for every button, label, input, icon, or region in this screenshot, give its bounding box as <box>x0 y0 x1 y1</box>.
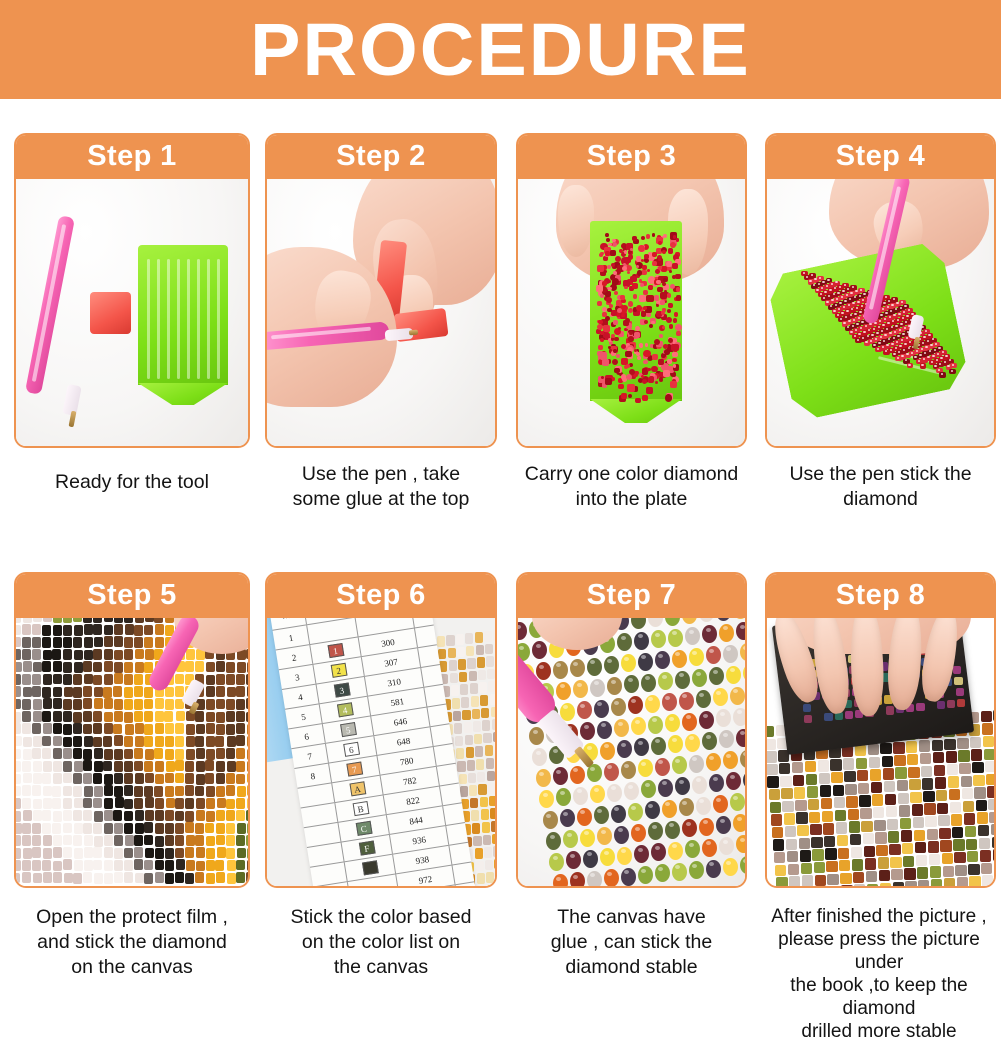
mosaic-bead <box>16 761 21 772</box>
mosaic-bead <box>23 687 32 698</box>
mosaic-bead <box>648 618 663 627</box>
step-badge-7: Step 7 <box>516 572 747 618</box>
mosaic-bead <box>206 686 215 697</box>
mosaic-bead <box>165 749 174 760</box>
mosaic-bead <box>53 872 62 883</box>
mosaic-bead <box>134 847 143 858</box>
mosaic-bead <box>134 711 143 722</box>
mosaic-bead <box>726 861 731 865</box>
mosaic-bead <box>226 748 235 759</box>
mosaic-bead <box>494 744 495 755</box>
mosaic-bead <box>63 823 72 834</box>
mosaic-bead <box>850 331 852 333</box>
mosaic-bead <box>63 662 72 673</box>
mosaic-bead <box>900 323 902 325</box>
mosaic-bead <box>608 243 611 246</box>
mosaic-bead <box>104 618 113 622</box>
mosaic-bead <box>236 699 245 710</box>
mosaic-bead <box>155 860 164 871</box>
mosaic-bead <box>883 302 885 304</box>
mosaic-bead <box>604 270 607 273</box>
mosaic-bead <box>706 841 711 845</box>
chart-symbol-swatch: 5 <box>340 722 357 737</box>
caption-line: Ready for the tool <box>14 470 250 495</box>
mosaic-bead <box>658 241 662 245</box>
mosaic-bead <box>481 809 489 820</box>
mosaic-bead <box>196 847 205 858</box>
mosaic-bead <box>954 677 962 685</box>
mosaic-bead <box>676 331 681 336</box>
mosaic-bead <box>480 695 488 706</box>
mosaic-bead <box>916 703 924 711</box>
mosaic-bead <box>104 649 113 660</box>
mosaic-bead <box>945 355 947 357</box>
mosaic-bead <box>601 830 606 834</box>
mosaic-bead <box>587 746 592 750</box>
mosaic-bead <box>706 735 711 739</box>
caption-line: drilled more stable <box>755 1020 1001 1043</box>
mosaic-bead <box>84 847 93 858</box>
mosaic-bead <box>23 618 32 623</box>
mosaic-bead <box>16 686 21 697</box>
mosaic-bead <box>165 786 174 797</box>
step-badge-2: Step 2 <box>265 133 497 179</box>
mosaic-bead <box>93 773 102 784</box>
mosaic-bead <box>898 313 900 315</box>
mosaic-bead <box>906 315 908 317</box>
mosaic-bead <box>63 798 72 809</box>
mosaic-bead <box>103 736 112 747</box>
mosaic-bead <box>676 295 681 300</box>
mosaic-bead <box>135 662 144 673</box>
mosaic-bead <box>492 834 495 845</box>
caption-line: The canvas have <box>516 905 747 930</box>
mosaic-bead <box>114 872 123 883</box>
mosaic-bead <box>84 860 93 871</box>
mosaic-bead <box>155 836 164 847</box>
mosaic-bead <box>23 810 32 821</box>
mosaic-bead <box>186 724 195 735</box>
mosaic-bead <box>104 785 113 796</box>
mosaic-bead <box>104 774 113 785</box>
mosaic-bead <box>692 651 697 655</box>
mosaic-bead <box>956 688 964 696</box>
mosaic-bead <box>644 254 649 259</box>
mosaic-bead <box>845 711 853 719</box>
page-title: PROCEDURE <box>250 13 751 87</box>
step-card-4: Step 4 <box>765 133 996 448</box>
mosaic-bead <box>861 305 863 307</box>
mosaic-bead <box>641 270 646 275</box>
mosaic-bead <box>664 349 670 355</box>
mosaic-bead <box>134 637 143 648</box>
mosaic-bead <box>16 699 21 710</box>
mosaic-bead <box>713 777 718 781</box>
mosaic-bead <box>667 309 671 313</box>
mosaic-bead <box>628 254 633 259</box>
mosaic-bead <box>114 835 123 846</box>
mosaic-bead <box>642 395 648 401</box>
mosaic-bead <box>73 873 82 884</box>
red-diamond-beads <box>518 179 745 446</box>
mosaic-bead <box>237 662 246 673</box>
mosaic-bead <box>665 696 670 700</box>
mosaic-bead <box>94 637 103 648</box>
mosaic-bead <box>196 774 205 785</box>
mosaic-bead <box>52 649 61 660</box>
mosaic-bead <box>185 811 194 822</box>
mosaic-bead <box>610 250 616 256</box>
mosaic-bead <box>43 835 52 846</box>
mosaic-bead <box>841 296 843 298</box>
mosaic-bead <box>652 718 657 722</box>
mosaic-bead <box>492 719 495 730</box>
mosaic-bead <box>486 656 494 667</box>
mosaic-bead <box>114 786 123 797</box>
step-photo-3 <box>518 179 745 446</box>
mosaic-bead <box>93 823 102 834</box>
mosaic-bead <box>124 785 133 796</box>
mosaic-bead <box>835 304 837 306</box>
mosaic-bead <box>594 681 599 685</box>
mosaic-bead <box>940 357 942 359</box>
mosaic-bead <box>839 286 841 288</box>
mosaic-bead <box>83 872 92 883</box>
mosaic-bead <box>686 715 691 719</box>
mosaic-bead <box>660 300 665 305</box>
mosaic-bead <box>626 364 630 368</box>
mosaic-bead <box>236 686 245 697</box>
mosaic-bead <box>22 674 31 685</box>
mosaic-bead <box>236 748 245 759</box>
mosaic-bead <box>597 265 604 272</box>
mosaic-bead <box>83 661 92 672</box>
mosaic-bead <box>185 661 194 672</box>
mosaic-bead <box>114 618 123 623</box>
mosaic-bead <box>636 305 642 311</box>
mosaic-bead <box>921 364 923 366</box>
mosaic-bead <box>597 809 602 813</box>
mosaic-bead <box>53 861 62 872</box>
mosaic-bead <box>73 810 82 821</box>
mosaic-bead <box>124 823 133 834</box>
mosaic-bead <box>641 869 646 873</box>
mosaic-bead <box>668 248 673 253</box>
mosaic-bead <box>720 819 725 823</box>
mosaic-bead <box>556 877 561 881</box>
mosaic-bead <box>652 261 657 266</box>
mosaic-bead <box>124 761 133 772</box>
chart-symbol-swatch: 1 <box>327 643 344 658</box>
mosaic-bead <box>539 772 544 776</box>
mosaic-bead <box>487 885 495 886</box>
mosaic-bead <box>175 773 184 784</box>
mosaic-bead <box>104 636 113 647</box>
mosaic-bead <box>134 748 143 759</box>
mosaic-bead <box>104 661 113 672</box>
mosaic-bead <box>16 674 21 685</box>
mosaic-bead <box>63 724 72 735</box>
mosaic-bead <box>84 674 93 685</box>
mosaic-bead <box>43 761 52 772</box>
mosaic-bead <box>84 835 93 846</box>
mosaic-bead <box>16 873 20 884</box>
mosaic-bead <box>247 773 248 784</box>
mosaic-bead <box>53 625 62 636</box>
mosaic-bead <box>614 701 619 705</box>
mosaic-bead <box>621 743 626 747</box>
mosaic-bead <box>226 711 235 722</box>
mosaic-bead <box>893 353 895 355</box>
mosaic-bead <box>144 860 153 871</box>
mosaic-bead <box>459 672 467 683</box>
mosaic-bead <box>206 675 215 686</box>
mosaic-bead <box>93 662 102 673</box>
mosaic-bead <box>488 681 495 692</box>
mosaic-bead <box>475 746 483 757</box>
mosaic-bead <box>600 352 607 359</box>
mosaic-bead <box>52 786 61 797</box>
mosaic-bead <box>16 823 22 834</box>
procedure-infographic: PROCEDURE Step 1 <box>0 0 1001 1001</box>
mosaic-bead <box>32 847 41 858</box>
mosaic-bead <box>217 847 226 858</box>
caption-line: Use the pen stick the <box>765 462 996 487</box>
mosaic-bead <box>42 711 51 722</box>
mosaic-bead <box>553 856 558 860</box>
mosaic-bead <box>135 736 144 747</box>
mosaic-bead <box>63 649 72 660</box>
mosaic-bead <box>247 848 248 859</box>
mosaic-bead <box>186 649 195 660</box>
mosaic-bead <box>859 295 861 297</box>
caption-line: Stick the color based <box>265 905 497 930</box>
mosaic-bead <box>32 649 41 660</box>
mosaic-bead <box>829 289 831 291</box>
mosaic-bead <box>195 661 204 672</box>
mosaic-bead <box>63 618 72 623</box>
mosaic-bead <box>144 687 153 698</box>
mosaic-bead <box>672 738 677 742</box>
step-badge-1: Step 1 <box>14 133 250 179</box>
mosaic-bead <box>53 698 62 709</box>
mosaic-bead <box>639 343 643 347</box>
mosaic-bead <box>643 290 647 294</box>
mosaic-bead <box>743 771 745 789</box>
mosaic-bead <box>216 686 225 697</box>
mosaic-bead <box>23 661 32 672</box>
step-caption-2: Use the pen , take some glue at the top <box>265 462 497 512</box>
mosaic-bead <box>124 649 133 660</box>
mosaic-bead <box>473 836 481 847</box>
mosaic-bead <box>53 674 62 685</box>
mosaic-bead <box>83 810 92 821</box>
mosaic-bead <box>437 636 445 647</box>
mosaic-bead <box>854 313 856 315</box>
mosaic-bead <box>618 828 623 832</box>
mosaic-bead <box>857 301 859 303</box>
mosaic-bead <box>891 343 893 345</box>
mosaic-bead <box>104 798 113 809</box>
red-diamond-rows <box>767 179 994 446</box>
mosaic-bead <box>624 764 629 768</box>
mosaic-bead <box>114 848 123 859</box>
mosaic-bead <box>226 810 235 821</box>
mosaic-bead <box>670 381 677 388</box>
mosaic-bead <box>175 823 184 834</box>
mosaic-bead <box>125 624 134 635</box>
mosaic-bead <box>124 799 133 810</box>
mosaic-bead <box>176 711 185 722</box>
mosaic-bead <box>53 711 62 722</box>
caption-line: on the canvas <box>8 955 256 980</box>
mosaic-bead <box>135 773 144 784</box>
mosaic-bead <box>236 835 245 846</box>
mosaic-bead <box>616 354 619 357</box>
mosaic-bead <box>93 798 102 809</box>
mosaic-bead <box>216 761 225 772</box>
mosaic-bead <box>103 687 112 698</box>
mosaic-bead <box>613 320 618 325</box>
mosaic-bead <box>205 823 214 834</box>
mosaic-bead <box>53 835 62 846</box>
mosaic-bead <box>74 823 83 834</box>
mosaic-bead <box>247 761 248 772</box>
mosaic-bead <box>74 650 83 661</box>
mosaic-bead <box>114 749 123 760</box>
mosaic-bead <box>656 280 660 284</box>
step-photo-7 <box>518 618 745 886</box>
mosaic-bead <box>16 712 21 723</box>
mosaic-bead <box>635 827 640 831</box>
mosaic-bead <box>175 786 184 797</box>
mosaic-bead <box>885 296 887 298</box>
mosaic-bead <box>206 736 215 747</box>
mosaic-bead <box>42 736 51 747</box>
step-badge-4: Step 4 <box>765 133 996 179</box>
mosaic-bead <box>887 306 889 308</box>
mosaic-bead <box>652 825 657 829</box>
mosaic-bead <box>659 334 662 337</box>
mosaic-bead <box>83 618 92 623</box>
mosaic-bead <box>84 736 93 747</box>
mosaic-bead <box>23 737 32 748</box>
mosaic-bead <box>953 666 961 674</box>
step-badge-5: Step 5 <box>14 572 250 618</box>
mosaic-bead <box>473 721 481 732</box>
mosaic-bead <box>114 624 123 635</box>
step-badge-label: Step 3 <box>587 142 676 171</box>
mosaic-bead <box>546 814 551 818</box>
mosaic-bead <box>124 811 133 822</box>
mosaic-bead <box>16 798 21 809</box>
mosaic-bead <box>63 625 72 636</box>
mosaic-bead <box>661 266 666 271</box>
mosaic-bead <box>22 723 31 734</box>
mosaic-bead <box>672 358 677 363</box>
mosaic-bead <box>165 835 174 846</box>
mosaic-bead <box>216 823 225 834</box>
mosaic-bead <box>104 810 113 821</box>
mosaic-bead <box>459 774 467 785</box>
mosaic-bead <box>663 234 667 238</box>
mosaic-bead <box>73 786 82 797</box>
mosaic-bead <box>472 823 480 834</box>
mosaic-bead <box>155 798 164 809</box>
mosaic-bead <box>631 699 636 703</box>
mosaic-bead <box>226 823 235 834</box>
mosaic-bead <box>632 283 638 289</box>
mosaic-bead <box>185 785 194 796</box>
mosaic-bead <box>493 732 495 743</box>
mosaic-bead <box>600 338 604 342</box>
mosaic-bead <box>93 737 102 748</box>
mosaic-bead <box>226 835 235 846</box>
mosaic-bead <box>247 662 248 673</box>
mosaic-bead <box>134 761 143 772</box>
mosaic-bead <box>457 647 465 658</box>
mosaic-bead <box>74 848 83 859</box>
mosaic-bead <box>195 835 204 846</box>
mosaic-bead <box>458 659 466 670</box>
mosaic-bead <box>237 848 246 859</box>
mosaic-bead <box>33 662 42 673</box>
mosaic-bead <box>104 835 113 846</box>
mosaic-bead <box>837 314 839 316</box>
mosaic-bead <box>53 811 62 822</box>
mosaic-bead <box>689 736 694 740</box>
mosaic-bead <box>185 798 194 809</box>
mosaic-bead <box>186 749 195 760</box>
mosaic-bead <box>165 699 174 710</box>
mosaic-bead <box>22 798 31 809</box>
mosaic-bead <box>22 624 31 635</box>
mosaic-bead <box>634 332 640 338</box>
step-badge-6: Step 6 <box>265 572 497 618</box>
mosaic-bead <box>600 331 604 335</box>
mosaic-bead <box>882 308 884 310</box>
mosaic-bead <box>713 670 718 674</box>
mosaic-bead <box>645 783 650 787</box>
mosaic-bead <box>672 631 677 635</box>
mosaic-bead <box>844 300 846 302</box>
mosaic-bead <box>215 860 224 871</box>
mosaic-bead <box>852 325 854 327</box>
mosaic-bead <box>124 637 133 648</box>
mosaic-bead <box>600 294 604 298</box>
mosaic-bead <box>672 263 678 269</box>
step-badge-label: Step 5 <box>87 581 176 610</box>
mosaic-bead <box>63 786 72 797</box>
mosaic-bead <box>22 872 31 883</box>
mosaic-bead <box>477 772 485 783</box>
mosaic-bead <box>469 671 477 682</box>
mosaic-bead <box>485 745 493 756</box>
mosaic-bead <box>465 735 473 746</box>
caption-line: Open the protect film , <box>8 905 256 930</box>
mosaic-bead <box>165 687 174 698</box>
mosaic-bead <box>217 798 226 809</box>
mosaic-bead <box>144 761 153 772</box>
mosaic-bead <box>42 661 51 672</box>
mosaic-bead <box>916 350 918 352</box>
mosaic-bead <box>16 736 22 747</box>
mosaic-bead <box>937 701 945 709</box>
mosaic-bead <box>669 717 674 721</box>
mosaic-bead <box>648 377 654 383</box>
mosaic-bead <box>672 352 678 358</box>
mosaic-bead <box>63 810 72 821</box>
